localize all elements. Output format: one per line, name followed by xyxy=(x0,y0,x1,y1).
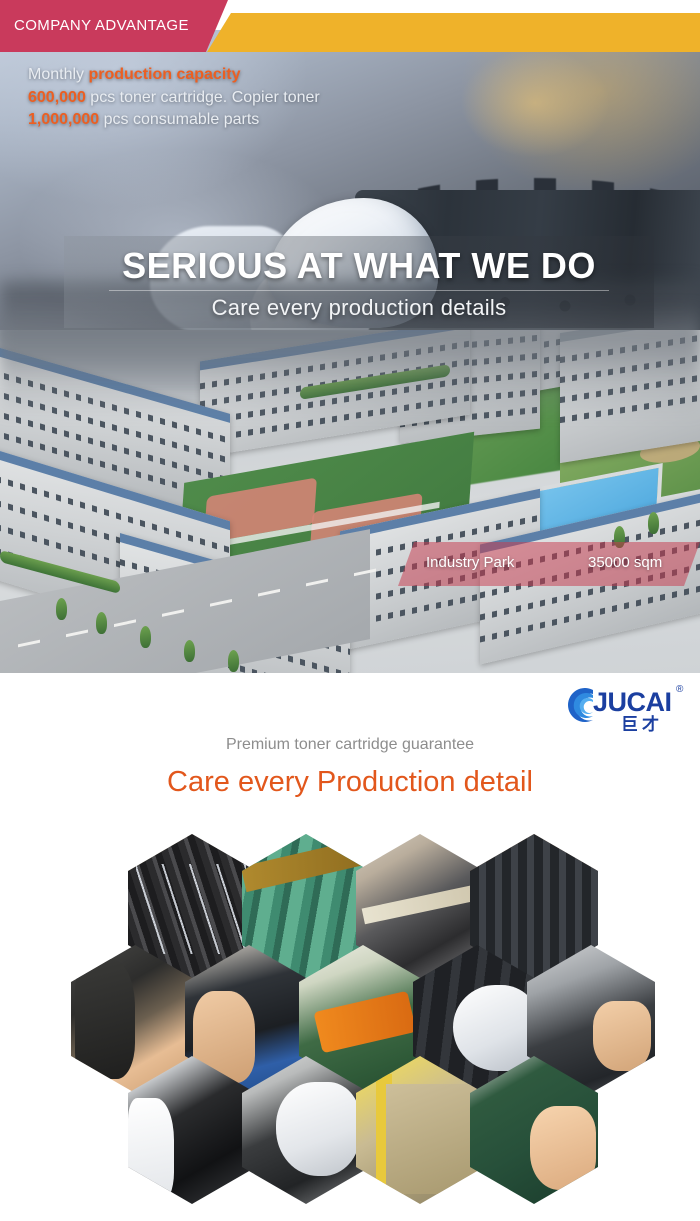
model-tree xyxy=(56,598,67,620)
jucai-logo[interactable]: JUCAI ® 巨才 xyxy=(563,684,691,730)
capacity-line3-plain: pcs consumable parts xyxy=(99,111,259,128)
model-tree xyxy=(228,650,239,672)
ribbon-yellow-band xyxy=(207,13,700,52)
model-tree xyxy=(184,640,195,662)
model-tree xyxy=(140,626,151,648)
section-heading: Care every Production detail xyxy=(0,766,700,799)
capacity-line2-highlight: 600,000 xyxy=(28,89,86,106)
industry-park-area: 35000 sqm xyxy=(588,554,662,571)
capacity-line1-highlight: production capacity xyxy=(88,66,240,83)
industry-park-label: Industry Park xyxy=(426,554,514,571)
production-hexagon-grid: Stacked doctor blades on workbench Green… xyxy=(0,828,700,1168)
slogan-overlay: SERIOUS AT WHAT WE DO Care every product… xyxy=(64,236,654,328)
model-tree xyxy=(648,512,659,534)
section-title: COMPANY ADVANTAGE xyxy=(14,17,189,34)
logo-chinese-name: 巨才 xyxy=(621,710,663,735)
capacity-line-3: 1,000,000 pcs consumable parts xyxy=(28,109,320,132)
capacity-line-2: 600,000 pcs toner cartridge. Copier tone… xyxy=(28,87,320,110)
bokeh-highlight xyxy=(460,48,610,158)
ribbon-red-band: COMPANY ADVANTAGE xyxy=(0,0,228,52)
capacity-line-1: Monthly production capacity xyxy=(28,64,320,87)
section-subheading: Premium toner cartridge guarantee xyxy=(0,736,700,754)
capacity-line3-highlight: 1,000,000 xyxy=(28,111,99,128)
slogan-headline: SERIOUS AT WHAT WE DO xyxy=(64,245,654,287)
registered-trademark-icon: ® xyxy=(676,684,683,695)
model-tree xyxy=(96,612,107,634)
slogan-divider xyxy=(109,290,609,291)
capacity-line1-plain: Monthly xyxy=(28,66,88,83)
production-capacity-text: Monthly production capacity 600,000 pcs … xyxy=(28,64,320,132)
industry-park-badge: Industry Park 35000 sqm xyxy=(398,542,700,586)
header-ribbon: COMPANY ADVANTAGE xyxy=(0,0,700,52)
capacity-line2-plain: pcs toner cartridge. Copier toner xyxy=(86,89,320,106)
slogan-subline: Care every production details xyxy=(64,295,654,321)
